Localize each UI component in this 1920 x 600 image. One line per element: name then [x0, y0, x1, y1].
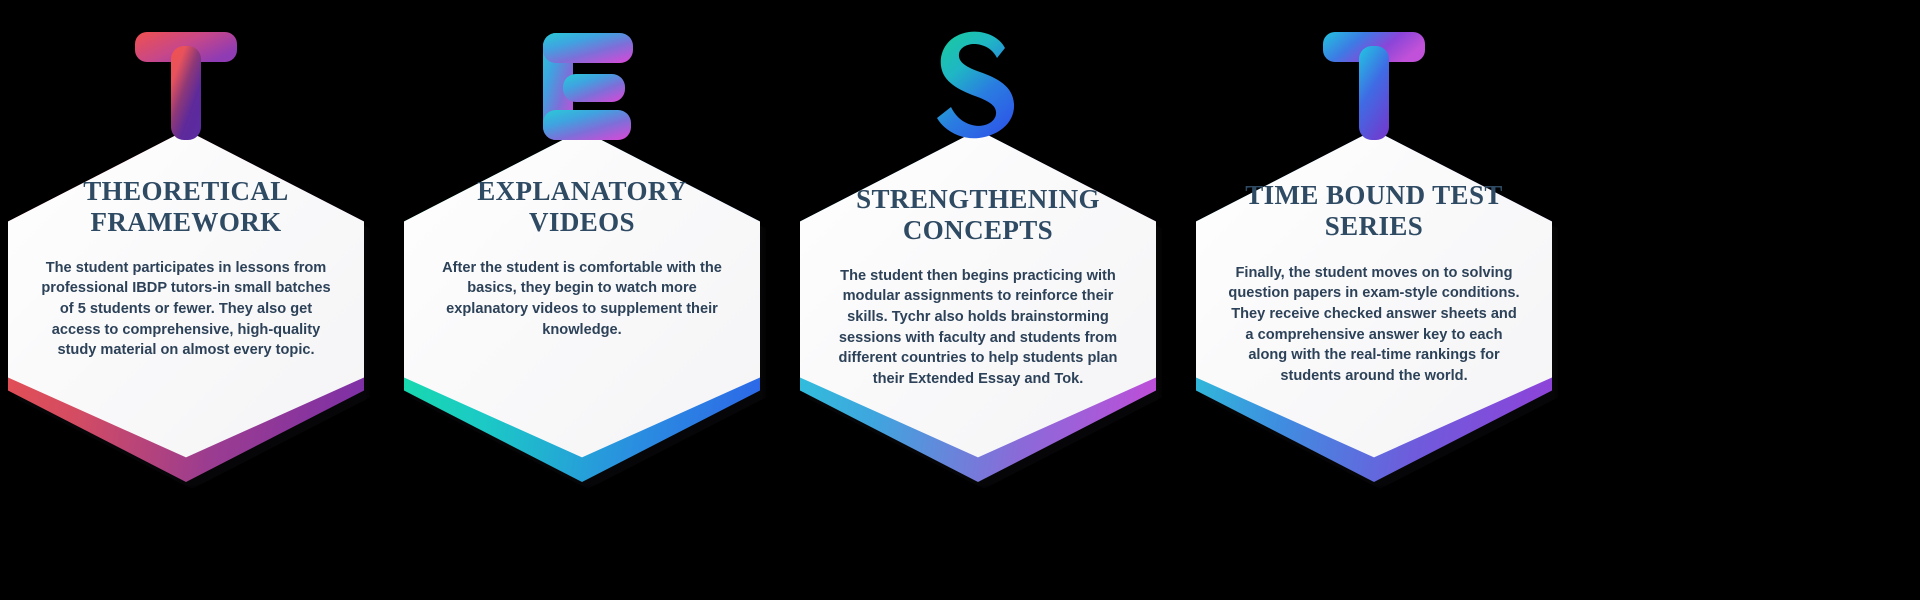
card-title: EXPLANATORY VIDEOS	[422, 176, 742, 238]
letter-s-icon	[800, 22, 1156, 140]
process-card-time-bound-test-series[interactable]: TIME BOUND TEST SERIES Finally, the stud…	[1196, 22, 1552, 482]
letter-t-icon	[8, 22, 364, 140]
card-body-text: After the student is comfortable with th…	[438, 258, 726, 341]
card-content: STRENGTHENING CONCEPTS The student then …	[800, 130, 1156, 482]
card-body-text: The student participates in lessons from…	[36, 258, 336, 362]
process-card-theoretical-framework[interactable]: THEORETICAL FRAMEWORK The student partic…	[8, 22, 364, 482]
card-content: TIME BOUND TEST SERIES Finally, the stud…	[1196, 130, 1552, 482]
card-content: THEORETICAL FRAMEWORK The student partic…	[8, 130, 364, 482]
letter-t-icon	[1196, 22, 1552, 140]
process-card-explanatory-videos[interactable]: EXPLANATORY VIDEOS After the student is …	[404, 22, 760, 482]
card-body-text: The student then begins practicing with …	[822, 266, 1134, 390]
card-title: TIME BOUND TEST SERIES	[1214, 180, 1534, 242]
process-card-strengthening-concepts[interactable]: STRENGTHENING CONCEPTS The student then …	[800, 22, 1156, 482]
card-title: THEORETICAL FRAMEWORK	[26, 176, 346, 238]
card-title: STRENGTHENING CONCEPTS	[818, 184, 1138, 246]
letter-e-icon	[404, 22, 760, 140]
card-content: EXPLANATORY VIDEOS After the student is …	[404, 130, 760, 482]
card-body-text: Finally, the student moves on to solving…	[1228, 263, 1520, 387]
infographic-board: THEORETICAL FRAMEWORK The student partic…	[0, 0, 1920, 600]
